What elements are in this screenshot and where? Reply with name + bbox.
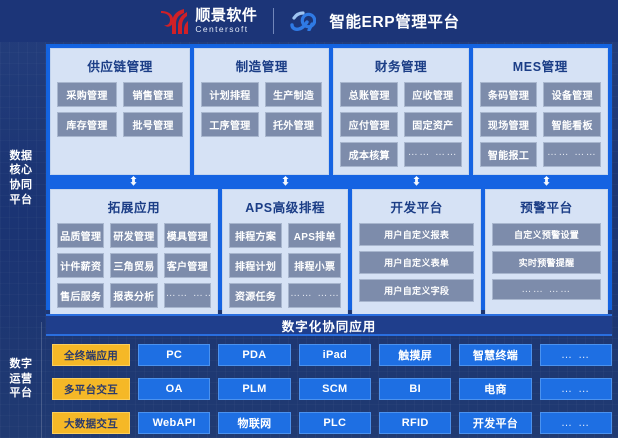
module-row-upper: 供应链管理采购管理销售管理库存管理批号管理制造管理计划排程生产制造工序管理托外管…: [50, 48, 608, 175]
module-row-lower: 拓展应用品质管理研发管理模具管理计件薪资三角贸易客户管理售后服务报表分析…… ……: [50, 189, 608, 316]
module-chip[interactable]: 研发管理: [110, 223, 157, 248]
module-chip[interactable]: 排程方案: [229, 223, 282, 248]
module-chip-more[interactable]: …… ……: [543, 142, 601, 167]
ops-cell[interactable]: BI: [379, 378, 451, 400]
module-card-title: MES管理: [513, 56, 568, 75]
flow-connector-band: [50, 175, 608, 189]
module-chip[interactable]: 工序管理: [201, 112, 259, 137]
module-card[interactable]: 财务管理总账管理应收管理应付管理固定资产成本核算…… ……: [333, 48, 468, 175]
ops-platform-grid: 全终端应用PCPDAiPad触摸屏智慧终端… …多平台交互OAPLMSCMBI电…: [52, 344, 612, 434]
module-chip-more[interactable]: …… ……: [492, 279, 601, 300]
brand-name-cn: 顺景软件: [195, 8, 257, 23]
ops-cell[interactable]: 物联网: [218, 412, 290, 434]
module-chip[interactable]: 成本核算: [340, 142, 398, 167]
ops-cell[interactable]: PLC: [299, 412, 371, 434]
core-platform-frame: 供应链管理采购管理销售管理库存管理批号管理制造管理计划排程生产制造工序管理托外管…: [46, 44, 612, 310]
ops-cell[interactable]: 智慧终端: [459, 344, 531, 366]
sidebar-label-core-platform: 数据核心协同平台: [0, 42, 42, 314]
module-card-title: 财务管理: [375, 56, 427, 75]
module-chip-group: 条码管理设备管理现场管理智能看板智能报工…… ……: [480, 82, 601, 167]
module-chip-group: 采购管理销售管理库存管理批号管理: [57, 82, 183, 137]
ops-row-tag[interactable]: 多平台交互: [52, 378, 130, 400]
module-chip-group: 排程方案APS排单排程计划排程小票资源任务…… ……: [229, 223, 341, 308]
module-chip[interactable]: APS排单: [288, 223, 341, 248]
ops-row: 大数据交互WebAPI物联网PLCRFID开发平台… …: [52, 412, 612, 434]
flow-arrow-down-icon: [412, 176, 421, 189]
module-chip[interactable]: 三角贸易: [110, 253, 157, 278]
module-card[interactable]: 供应链管理采购管理销售管理库存管理批号管理: [50, 48, 190, 175]
ops-cell[interactable]: PLM: [218, 378, 290, 400]
ops-cell[interactable]: PDA: [218, 344, 290, 366]
ops-cell[interactable]: 电商: [459, 378, 531, 400]
s9-infinity-icon: [290, 11, 316, 31]
app-header: 顺景软件 Centersoft 智能ERP管理平台: [0, 0, 618, 42]
module-chip[interactable]: 排程小票: [288, 253, 341, 278]
header-divider: [273, 8, 274, 34]
ops-cell-more[interactable]: … …: [540, 378, 612, 400]
flow-arrow-down-icon: [542, 176, 551, 189]
module-chip-group: 自定义预警设置实时预警提醒…… ……: [492, 223, 601, 300]
module-chip[interactable]: 计件薪资: [57, 253, 104, 278]
module-chip[interactable]: 库存管理: [57, 112, 117, 137]
module-card[interactable]: 制造管理计划排程生产制造工序管理托外管理: [194, 48, 329, 175]
digital-collaboration-banner: 数字化协同应用: [46, 314, 612, 336]
module-card[interactable]: 预警平台自定义预警设置实时预警提醒…… ……: [485, 189, 608, 316]
module-chip[interactable]: 资源任务: [229, 283, 282, 308]
module-card-title: 开发平台: [390, 197, 442, 216]
module-chip[interactable]: 应收管理: [404, 82, 462, 107]
ops-row: 全终端应用PCPDAiPad触摸屏智慧终端… …: [52, 344, 612, 366]
ops-cell[interactable]: OA: [138, 378, 210, 400]
brand-name-en: Centersoft: [195, 25, 257, 34]
ops-cell[interactable]: 开发平台: [459, 412, 531, 434]
module-chip[interactable]: 采购管理: [57, 82, 117, 107]
platform-title: 智能ERP管理平台: [329, 10, 459, 32]
module-chip[interactable]: 品质管理: [57, 223, 104, 248]
module-chip[interactable]: 批号管理: [123, 112, 183, 137]
module-chip-group: 用户自定义报表用户自定义表单用户自定义字段: [359, 223, 474, 302]
module-chip[interactable]: 计划排程: [201, 82, 259, 107]
ops-cell[interactable]: SCM: [299, 378, 371, 400]
module-chip[interactable]: 客户管理: [164, 253, 211, 278]
module-card[interactable]: 拓展应用品质管理研发管理模具管理计件薪资三角贸易客户管理售后服务报表分析…… ……: [50, 189, 218, 316]
brand-logo: 顺景软件 Centersoft 智能ERP管理平台: [158, 7, 459, 35]
module-card-title: 预警平台: [520, 197, 572, 216]
centersoft-swoosh-icon: [158, 7, 188, 35]
module-card-title: 制造管理: [236, 56, 288, 75]
ops-row: 多平台交互OAPLMSCMBI电商… …: [52, 378, 612, 400]
module-chip[interactable]: 实时预警提醒: [492, 251, 601, 274]
module-chip[interactable]: 设备管理: [543, 82, 601, 107]
module-card[interactable]: 开发平台用户自定义报表用户自定义表单用户自定义字段: [352, 189, 481, 316]
flow-arrow-down-icon: [281, 176, 290, 189]
brand-text: 顺景软件 Centersoft: [195, 8, 257, 34]
module-card[interactable]: MES管理条码管理设备管理现场管理智能看板智能报工…… ……: [473, 48, 608, 175]
module-chip[interactable]: 生产制造: [265, 82, 323, 107]
sidebar-label-core-text: 数据核心协同平台: [8, 149, 34, 207]
module-chip[interactable]: 智能报工: [480, 142, 538, 167]
ops-row-tag[interactable]: 大数据交互: [52, 412, 130, 434]
module-chip[interactable]: 售后服务: [57, 283, 104, 308]
module-chip[interactable]: 模具管理: [164, 223, 211, 248]
sidebar-label-ops-text: 数字运营平台: [8, 357, 34, 401]
flow-arrow-down-icon: [129, 176, 138, 189]
ops-cell[interactable]: 触摸屏: [379, 344, 451, 366]
module-chip[interactable]: 条码管理: [480, 82, 538, 107]
module-card-title: 拓展应用: [108, 197, 160, 216]
module-card-title: APS高级排程: [245, 197, 325, 216]
module-chip[interactable]: 用户自定义字段: [359, 279, 474, 302]
module-chip[interactable]: 报表分析: [110, 283, 157, 308]
module-chip[interactable]: 现场管理: [480, 112, 538, 137]
module-card-title: 供应链管理: [87, 56, 153, 75]
module-chip[interactable]: 托外管理: [265, 112, 323, 137]
ops-cell-more[interactable]: … …: [540, 412, 612, 434]
module-chip-group: 总账管理应收管理应付管理固定资产成本核算…… ……: [340, 82, 461, 167]
ops-cell[interactable]: WebAPI: [138, 412, 210, 434]
ops-cell-more[interactable]: … …: [540, 344, 612, 366]
sidebar-label-ops-platform: 数字运营平台: [0, 320, 42, 438]
ops-cell[interactable]: RFID: [379, 412, 451, 434]
module-chip[interactable]: 总账管理: [340, 82, 398, 107]
module-chip[interactable]: 用户自定义表单: [359, 251, 474, 274]
module-chip[interactable]: 用户自定义报表: [359, 223, 474, 246]
ops-cell[interactable]: PC: [138, 344, 210, 366]
module-chip-more[interactable]: …… ……: [288, 283, 341, 308]
digital-collaboration-title: 数字化协同应用: [282, 316, 377, 335]
module-chip[interactable]: 排程计划: [229, 253, 282, 278]
ops-row-tag[interactable]: 全终端应用: [52, 344, 130, 366]
ops-cell[interactable]: iPad: [299, 344, 371, 366]
module-chip[interactable]: 自定义预警设置: [492, 223, 601, 246]
module-chip-group: 品质管理研发管理模具管理计件薪资三角贸易客户管理售后服务报表分析…… ……: [57, 223, 211, 308]
module-chip-group: 计划排程生产制造工序管理托外管理: [201, 82, 322, 137]
module-chip-more[interactable]: …… ……: [404, 142, 462, 167]
module-chip-more[interactable]: …… ……: [164, 283, 211, 308]
module-chip[interactable]: 销售管理: [123, 82, 183, 107]
module-chip[interactable]: 应付管理: [340, 112, 398, 137]
module-chip[interactable]: 智能看板: [543, 112, 601, 137]
module-chip[interactable]: 固定资产: [404, 112, 462, 137]
module-card[interactable]: APS高级排程排程方案APS排单排程计划排程小票资源任务…… ……: [222, 189, 348, 316]
